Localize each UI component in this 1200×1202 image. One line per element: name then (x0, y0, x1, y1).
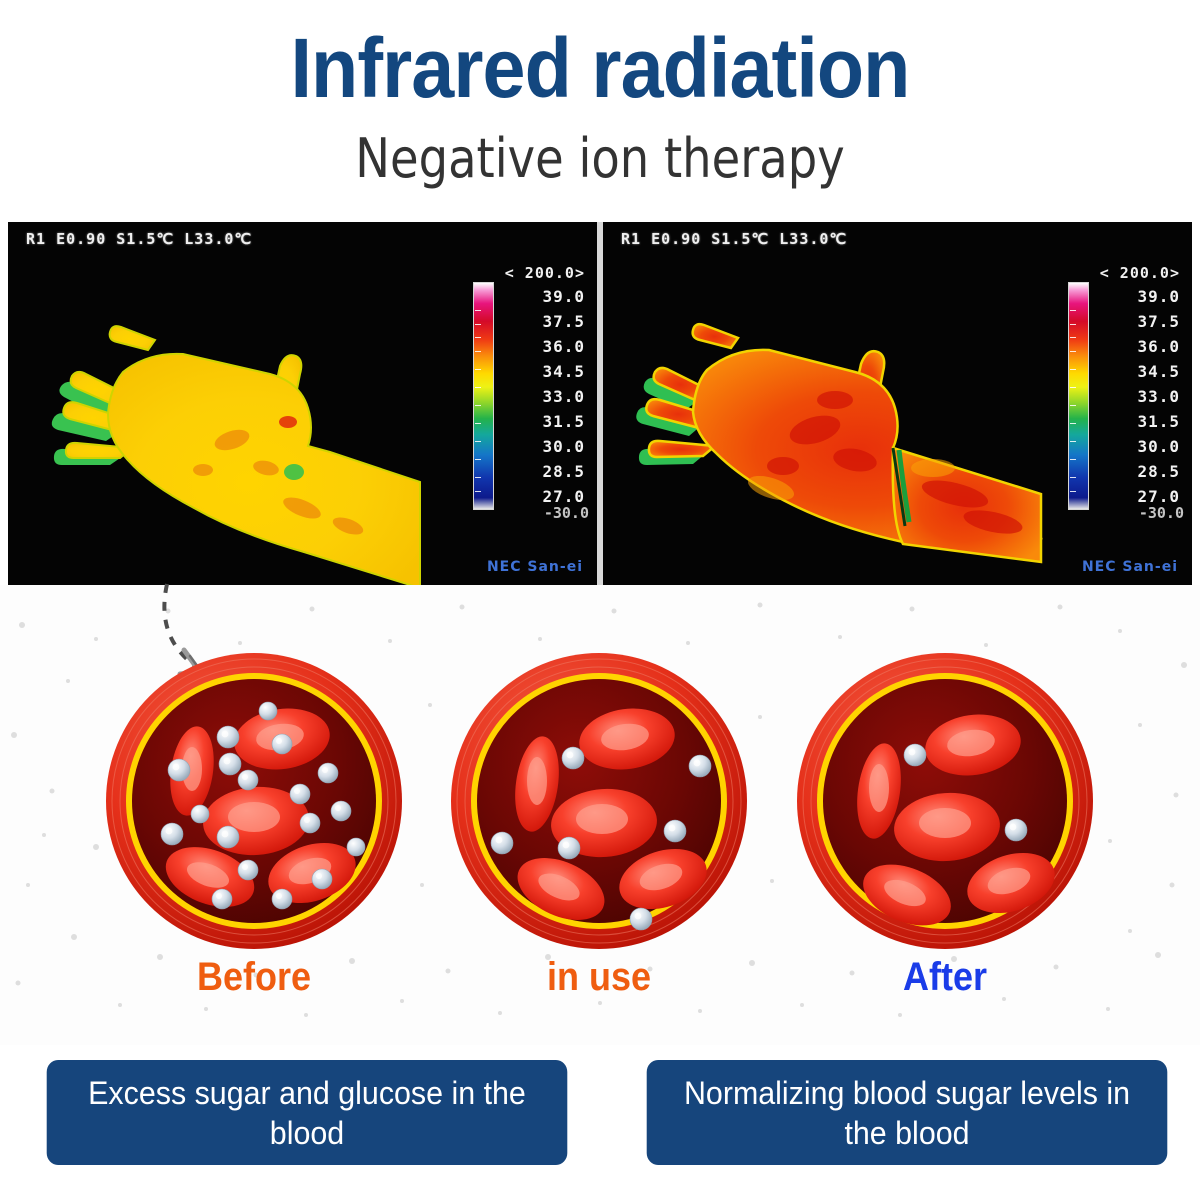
scale-value: 37.5 (542, 309, 585, 334)
thermogram-before: R1 E0.90 S1.5℃ L33.0℃ < 200.0> 39.0 37.5… (8, 222, 597, 585)
caption-box-before: Excess sugar and glucose in the blood (47, 1060, 568, 1165)
caption-row: Excess sugar and glucose in the blood No… (0, 1045, 1200, 1202)
scale-value: 39.0 (542, 284, 585, 309)
scale-value: 31.5 (1137, 409, 1180, 434)
thermogram-strip: R1 E0.90 S1.5℃ L33.0℃ < 200.0> 39.0 37.5… (8, 222, 1192, 585)
temperature-colorbar (473, 282, 494, 510)
thermogram-range-label: < 200.0> (1100, 264, 1180, 282)
header-block: Infrared radiation Negative ion therapy (0, 0, 1200, 222)
scale-value: 34.5 (542, 359, 585, 384)
scale-value: 33.0 (1137, 384, 1180, 409)
stage-label-in-use: in use (464, 955, 734, 1000)
stage-label-before: Before (119, 955, 389, 1000)
thermogram-osd-header: R1 E0.90 S1.5℃ L33.0℃ (621, 230, 847, 248)
scale-value: 28.5 (1137, 459, 1180, 484)
temperature-scale-values: 39.0 37.5 36.0 34.5 33.0 31.5 30.0 28.5 … (542, 284, 585, 509)
scale-value: 28.5 (542, 459, 585, 484)
page-subtitle: Negative ion therapy (84, 128, 1116, 190)
scale-value: 37.5 (1137, 309, 1180, 334)
thermogram-watermark: NEC San-ei (1082, 559, 1178, 575)
vessel-cross-section-after (795, 651, 1095, 951)
stage-label-after: After (810, 955, 1080, 1000)
scale-value: 30.0 (1137, 434, 1180, 459)
caption-box-after: Normalizing blood sugar levels in the bl… (647, 1060, 1168, 1165)
vessel-cross-section-before (104, 651, 404, 951)
scale-value: 36.0 (542, 334, 585, 359)
scale-value: 39.0 (1137, 284, 1180, 309)
thermogram-range-label: < 200.0> (505, 264, 585, 282)
scale-bottom-label: -30.0 (544, 504, 589, 522)
thermogram-osd-header: R1 E0.90 S1.5℃ L33.0℃ (26, 230, 252, 248)
scale-value: 33.0 (542, 384, 585, 409)
temperature-colorbar (1068, 282, 1089, 510)
vessel-cross-section-in-use (449, 651, 749, 951)
blood-vessel-section: Before in use After (0, 585, 1200, 1045)
thermogram-after: R1 E0.90 S1.5℃ L33.0℃ < 200.0> 39.0 37.5… (603, 222, 1192, 585)
page-title: Infrared radiation (48, 22, 1152, 114)
scale-value: 34.5 (1137, 359, 1180, 384)
scale-value: 31.5 (542, 409, 585, 434)
scale-value: 30.0 (542, 434, 585, 459)
temperature-scale-values: 39.0 37.5 36.0 34.5 33.0 31.5 30.0 28.5 … (1137, 284, 1180, 509)
scale-value: 36.0 (1137, 334, 1180, 359)
scale-bottom-label: -30.0 (1139, 504, 1184, 522)
thermogram-watermark: NEC San-ei (487, 559, 583, 575)
